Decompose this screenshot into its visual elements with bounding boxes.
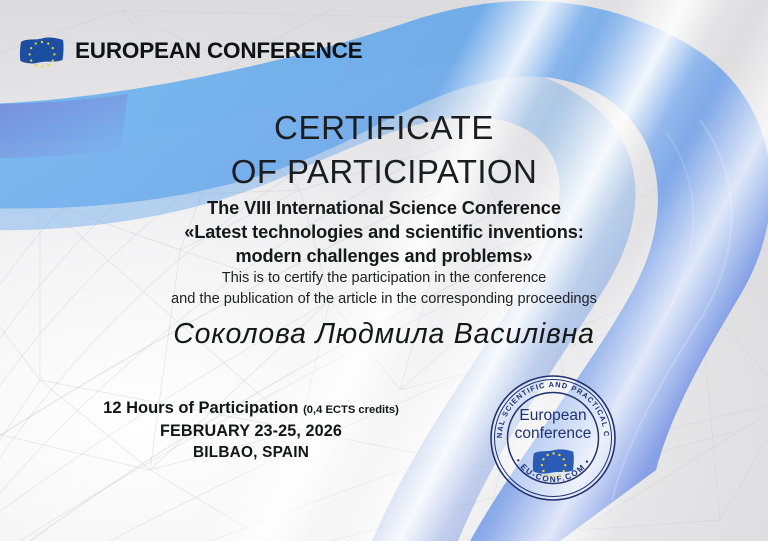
certificate-title-line1: CERTIFICATE xyxy=(0,106,768,150)
certify-statement-line1: This is to certify the participation in … xyxy=(0,268,768,289)
brand-logo: EUROPEAN CONFERENCE xyxy=(18,34,362,68)
conference-name-line2: «Latest technologies and scientific inve… xyxy=(0,220,768,244)
seal-center-line1: European xyxy=(519,407,586,424)
ects-credits-label: (0,4 ECTS credits) xyxy=(303,404,399,416)
conference-name-line1: The VIII International Science Conferenc… xyxy=(0,196,768,220)
participation-details: 12 Hours of Participation (0,4 ECTS cred… xyxy=(86,398,416,464)
brand-wordmark: EUROPEAN CONFERENCE xyxy=(75,38,362,64)
certificate-title: CERTIFICATE OF PARTICIPATION xyxy=(0,106,768,194)
certificate-title-line2: OF PARTICIPATION xyxy=(0,150,768,194)
official-seal: INTERNATIONAL SCIENTIFIC AND PRACTICAL C… xyxy=(487,372,619,504)
certify-statement-line2: and the publication of the article in th… xyxy=(0,289,768,310)
conference-name: The VIII International Science Conferenc… xyxy=(0,196,768,269)
seal-center-line2: conference xyxy=(515,425,592,442)
recipient-name: Соколова Людмила Василівна xyxy=(0,318,768,351)
event-date: FEBRUARY 23-25, 2026 xyxy=(86,419,416,443)
hours-line: 12 Hours of Participation (0,4 ECTS cred… xyxy=(86,398,416,419)
eu-flag-icon xyxy=(18,34,66,68)
hours-label: 12 Hours of Participation xyxy=(103,399,298,417)
conference-name-line3: modern challenges and problems» xyxy=(0,244,768,268)
certify-statement: This is to certify the participation in … xyxy=(0,268,768,310)
event-location: BILBAO, SPAIN xyxy=(86,443,416,464)
certificate-canvas: EUROPEAN CONFERENCE CERTIFICATE OF PARTI… xyxy=(0,0,768,541)
